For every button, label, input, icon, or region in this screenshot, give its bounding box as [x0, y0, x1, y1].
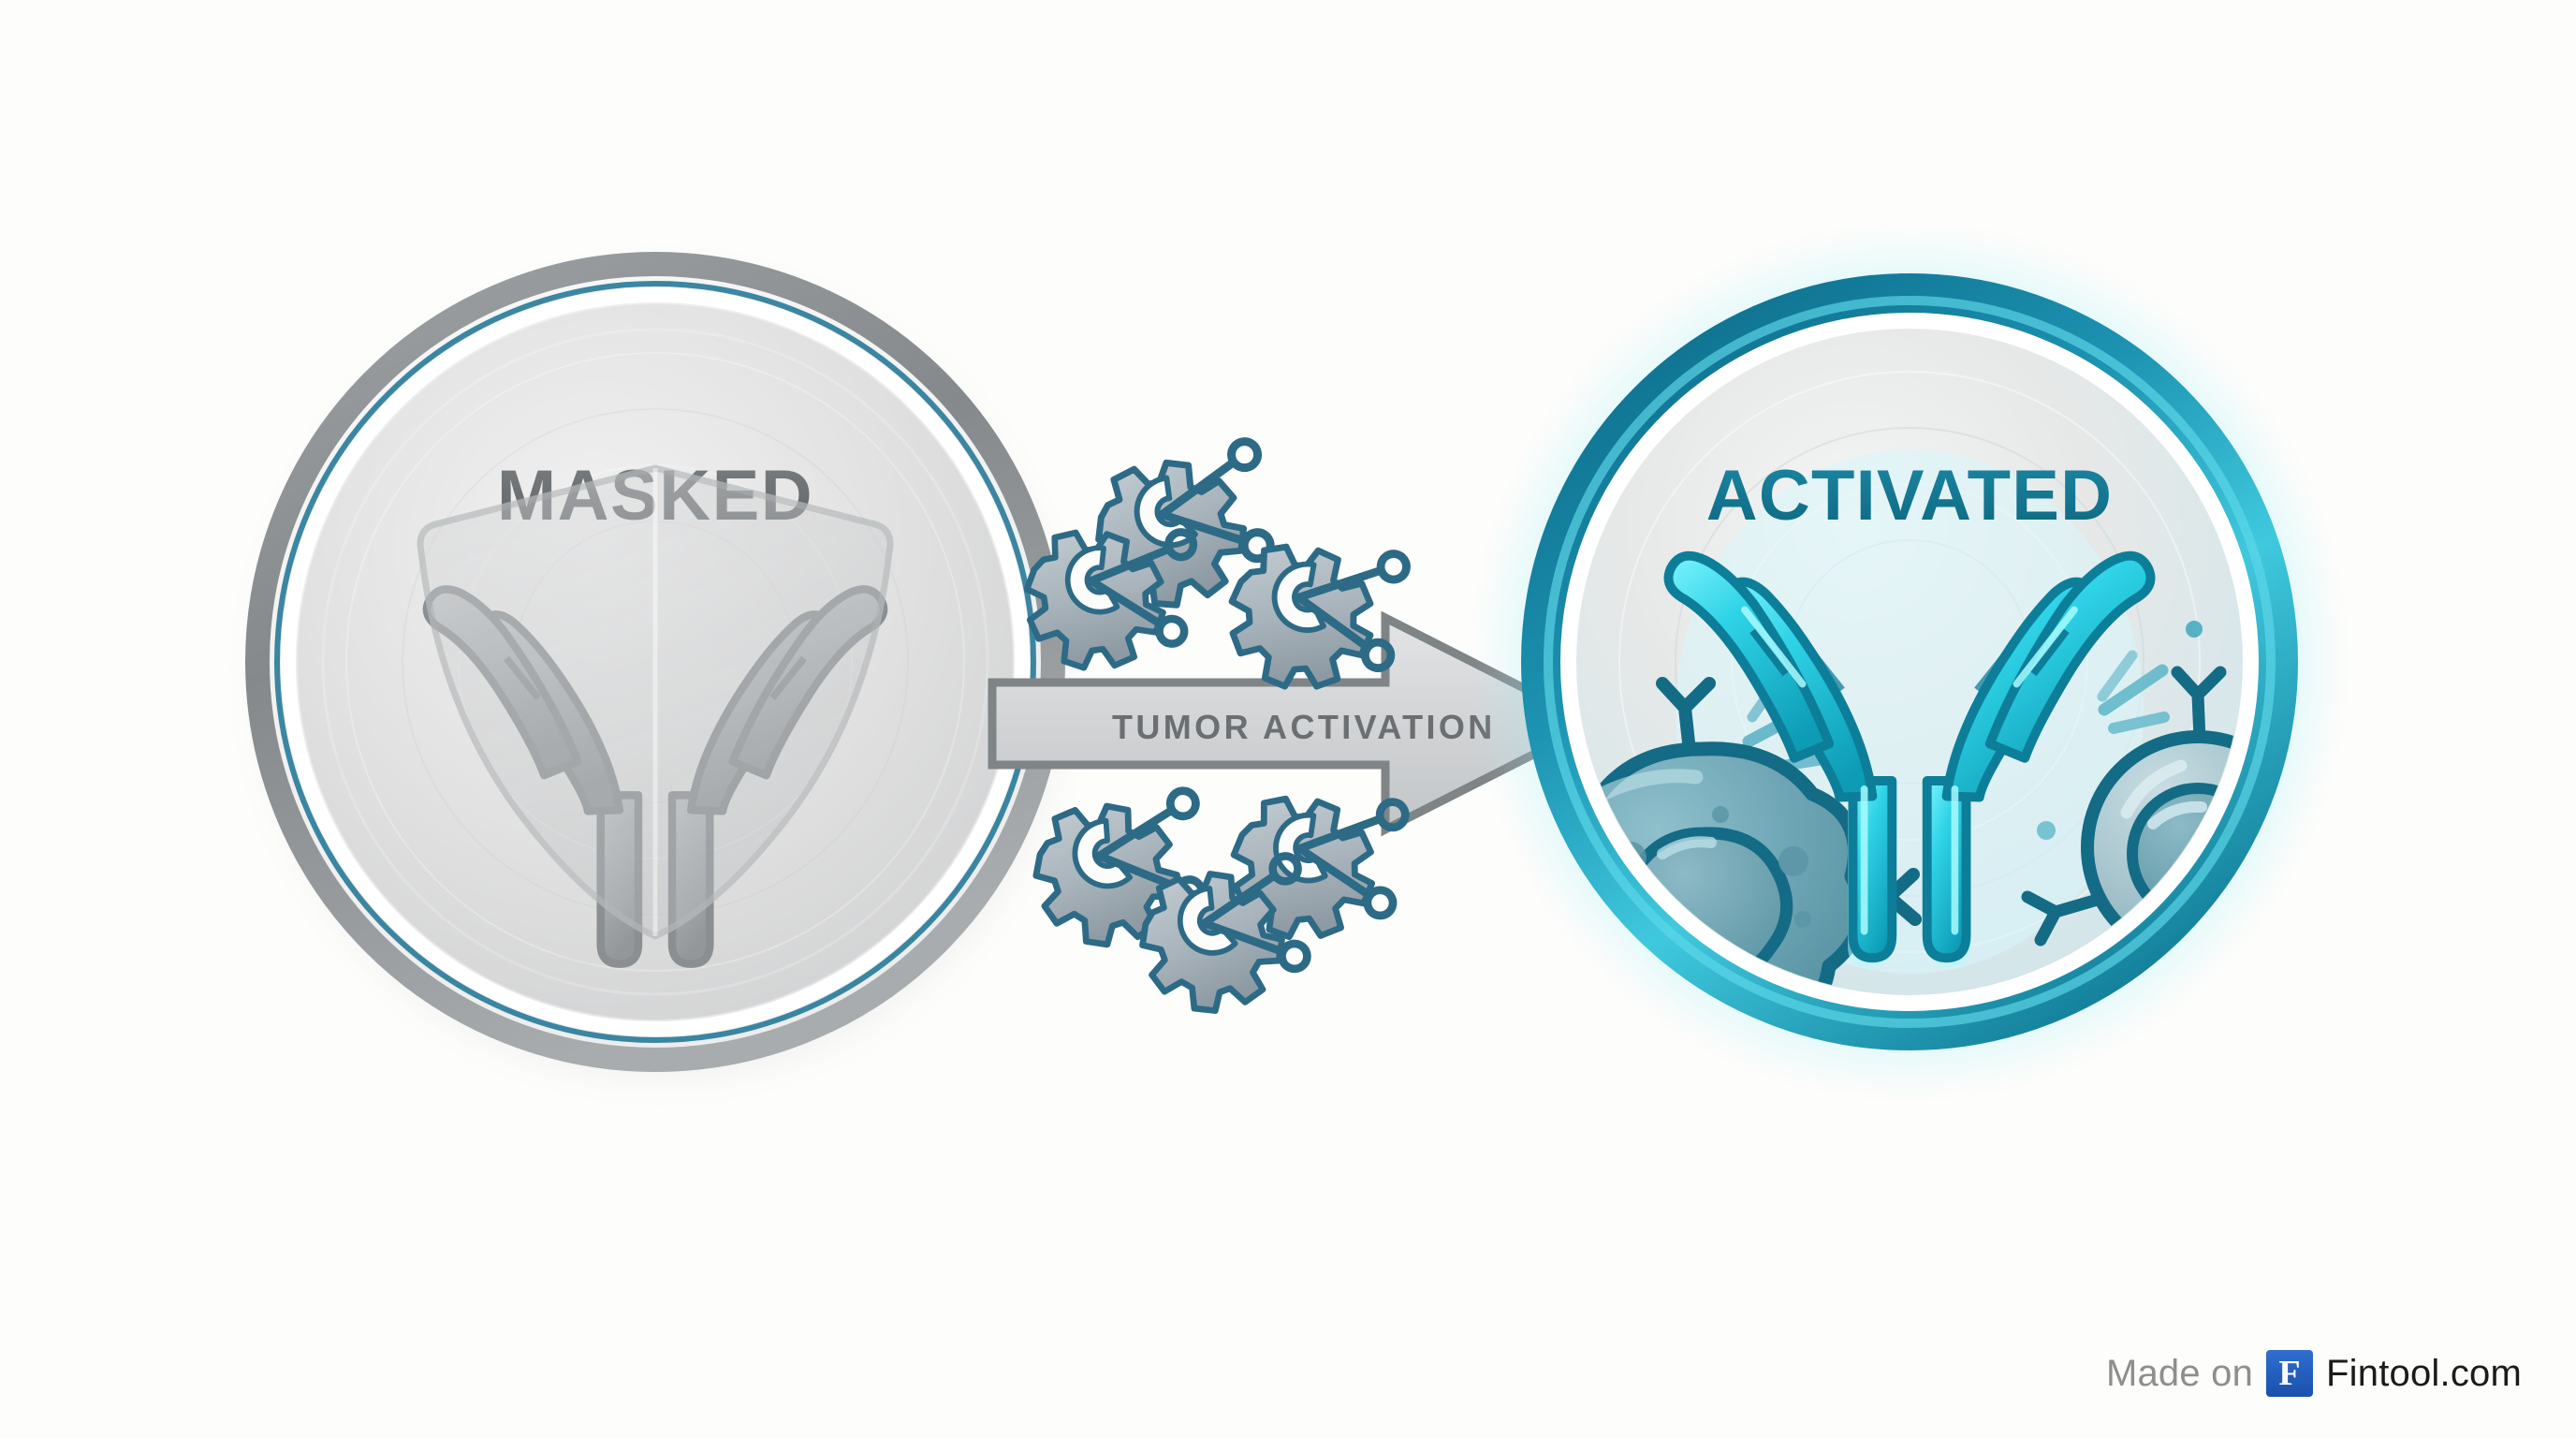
- arrow-label: TUMOR ACTIVATION: [1112, 708, 1496, 746]
- diagram-canvas: MASKED TUMOR ACTIVATION: [0, 0, 2576, 1438]
- activated-panel[interactable]: ACTIVATED: [1470, 222, 2351, 1105]
- activated-label: ACTIVATED: [1706, 456, 2113, 536]
- masked-panel[interactable]: MASKED: [221, 236, 1101, 1116]
- watermark-made-on-text: Made on: [2106, 1353, 2253, 1395]
- watermark-site-text: Fintool.com: [2326, 1353, 2522, 1395]
- fintool-watermark[interactable]: Made on F Fintool.com: [2106, 1350, 2522, 1397]
- antibody-activation-diagram: MASKED TUMOR ACTIVATION: [0, 0, 2576, 1438]
- antibody-stem-left: [1853, 781, 1893, 958]
- antibody-stem-right: [1927, 781, 1967, 958]
- fintool-logo-icon: F: [2266, 1350, 2313, 1397]
